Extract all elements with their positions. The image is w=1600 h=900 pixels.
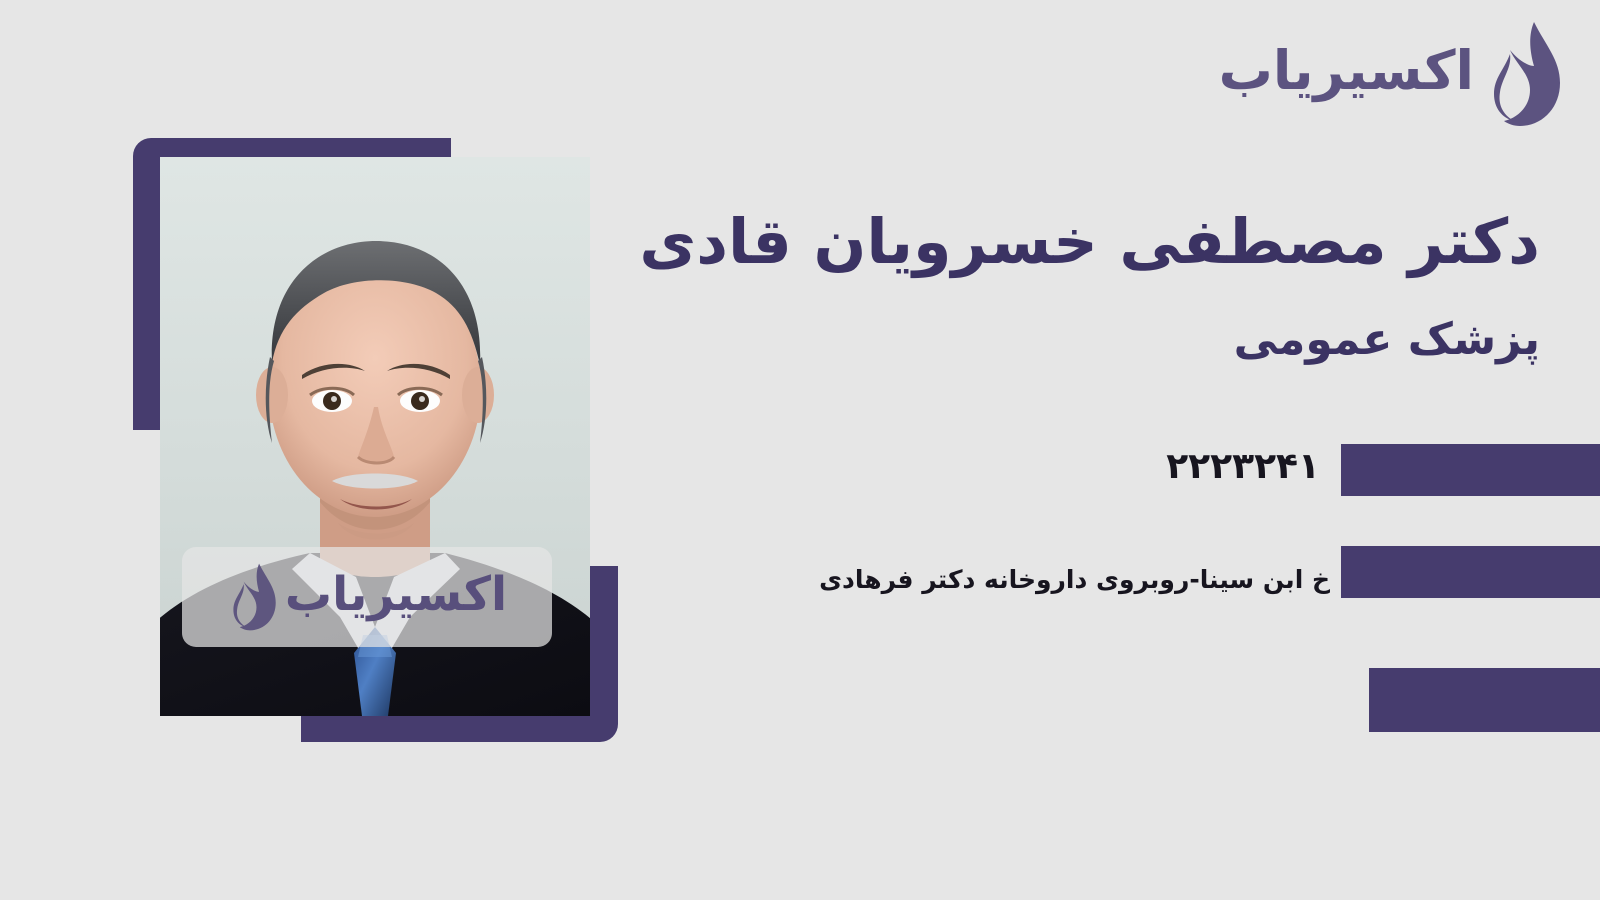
decorative-bar-1	[1341, 444, 1600, 496]
doctor-phone[interactable]: ۲۲۲۳۲۴۱	[1166, 446, 1320, 487]
flame-droplet-icon	[227, 562, 277, 632]
doctor-address: خ ابن سینا-روبروی داروخانه دکتر فرهادی	[819, 565, 1330, 594]
doctor-name: دکتر مصطفی خسرویان قادی	[580, 205, 1540, 278]
doctor-specialty: پزشک عمومی	[580, 314, 1540, 367]
doctor-info: دکتر مصطفی خسرویان قادی پزشک عمومی	[580, 205, 1540, 367]
decorative-bar-2	[1341, 546, 1600, 598]
brand-name: اکسیریاب	[1219, 44, 1474, 98]
portrait-block: اکسیریاب	[133, 138, 623, 744]
portrait-frame: اکسیریاب	[160, 157, 590, 716]
doctor-profile-card: اکسیریاب	[0, 0, 1600, 900]
watermark-brand-name: اکسیریاب	[285, 571, 507, 618]
photo-watermark: اکسیریاب	[182, 547, 552, 647]
brand-logo[interactable]: اکسیریاب	[1219, 20, 1562, 128]
decorative-bar-3	[1369, 668, 1600, 732]
flame-droplet-icon	[1484, 20, 1562, 128]
